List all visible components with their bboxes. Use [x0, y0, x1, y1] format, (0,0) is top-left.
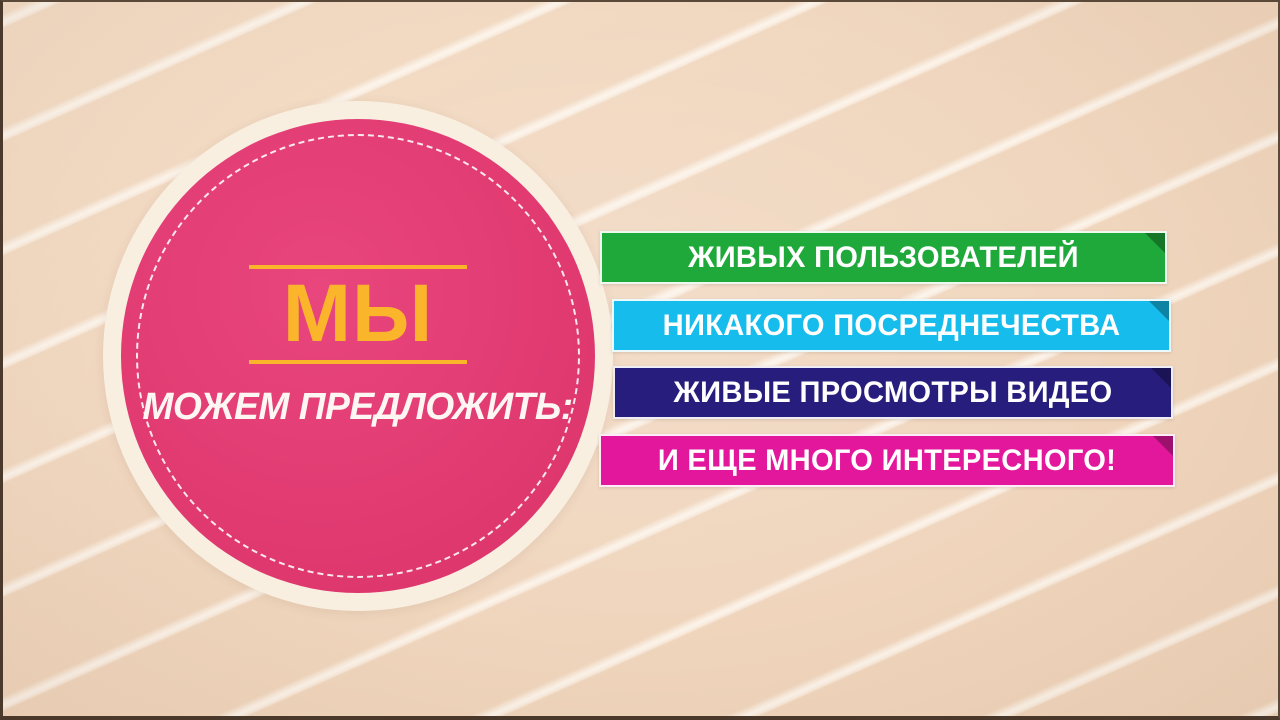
feature-bar-live-users[interactable]: ЖИВЫХ ПОЛЬЗОВАТЕЛЕЙ	[600, 231, 1167, 284]
feature-bar-live-video-views[interactable]: ЖИВЫЕ ПРОСМОТРЫ ВИДЕО	[613, 366, 1173, 419]
folded-corner-icon	[1153, 436, 1173, 456]
heading-rule-bottom	[249, 360, 467, 364]
feature-bar-label: ЖИВЫХ ПОЛЬЗОВАТЕЛЕЙ	[610, 241, 1156, 275]
folded-corner-icon	[1149, 301, 1169, 321]
feature-bar-label: НИКАКОГО ПОСРЕДНЕЧЕСТВА	[622, 309, 1160, 343]
circle-text-group: МЫ МОЖЕМ ПРЕДЛОЖИТЬ:	[103, 101, 613, 611]
promo-slide: МЫ МОЖЕМ ПРЕДЛОЖИТЬ: ЖИВЫХ ПОЛЬЗОВАТЕЛЕЙ…	[0, 0, 1280, 720]
feature-bar-no-intermediaries[interactable]: НИКАКОГО ПОСРЕДНЕЧЕСТВА	[612, 299, 1171, 352]
subheading-can-offer: МОЖЕМ ПРЕДЛОЖИТЬ:	[143, 386, 573, 429]
feature-bar-and-much-more[interactable]: И ЕЩЕ МНОГО ИНТЕРЕСНОГО!	[599, 434, 1175, 487]
feature-bar-label: И ЕЩЕ МНОГО ИНТЕРЕСНОГО!	[610, 444, 1165, 478]
circle-badge: МЫ МОЖЕМ ПРЕДЛОЖИТЬ:	[103, 101, 613, 611]
heading-we: МЫ	[283, 269, 434, 361]
folded-corner-icon	[1145, 233, 1165, 253]
folded-corner-icon	[1151, 368, 1171, 388]
feature-bar-label: ЖИВЫЕ ПРОСМОТРЫ ВИДЕО	[623, 376, 1162, 410]
heading-block: МЫ	[249, 265, 467, 365]
